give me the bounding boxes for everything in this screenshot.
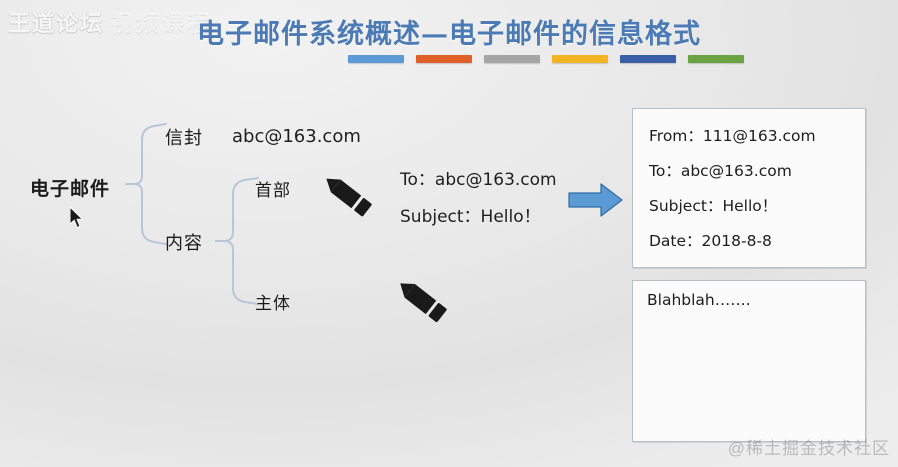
tree-node-envelope: 信封 [165, 124, 203, 150]
email-body-text: Blahblah……. [647, 291, 751, 309]
tree-brace-root [124, 118, 168, 250]
title-rule-seg-6 [688, 55, 744, 63]
title-rule-seg-1 [348, 55, 404, 63]
title-rule-seg-4 [552, 55, 608, 63]
email-field-from: From：111@163.com [649, 124, 816, 146]
page-title: 电子邮件系统概述—电子邮件的信息格式 [0, 12, 898, 51]
pencil-icon [392, 272, 452, 330]
header-to-text: To：abc@163.com [400, 165, 557, 190]
title-rule-seg-3 [484, 55, 540, 63]
site-watermark: @稀土掘金技术社区 [728, 434, 890, 459]
pencil-icon [318, 168, 376, 224]
tree-node-body: 主体 [255, 289, 291, 314]
email-field-to: To：abc@163.com [649, 159, 792, 181]
title-rule-seg-5 [620, 55, 676, 63]
tree-node-root: 电子邮件 [30, 174, 110, 201]
tree-brace-content [214, 172, 260, 310]
tree-node-header: 首部 [255, 176, 291, 201]
email-field-date: Date：2018-8-8 [649, 229, 772, 251]
email-body-panel: Blahblah……. [632, 280, 866, 442]
tree-node-content: 内容 [165, 229, 203, 255]
right-arrow-icon [568, 182, 624, 218]
email-field-subject: Subject：Hello！ [649, 194, 777, 216]
header-subject-text: Subject：Hello！ [400, 202, 541, 227]
title-rule-seg-2 [416, 55, 472, 63]
mouse-cursor-icon [70, 207, 86, 230]
email-header-panel: From：111@163.com To：abc@163.com Subject：… [632, 108, 866, 268]
slide-canvas: 王道论坛视频课程 电子邮件系统概述—电子邮件的信息格式 电子邮件 信封 内容 首… [0, 0, 898, 467]
title-rule [348, 55, 744, 63]
envelope-address-text: abc@163.com [232, 126, 361, 147]
